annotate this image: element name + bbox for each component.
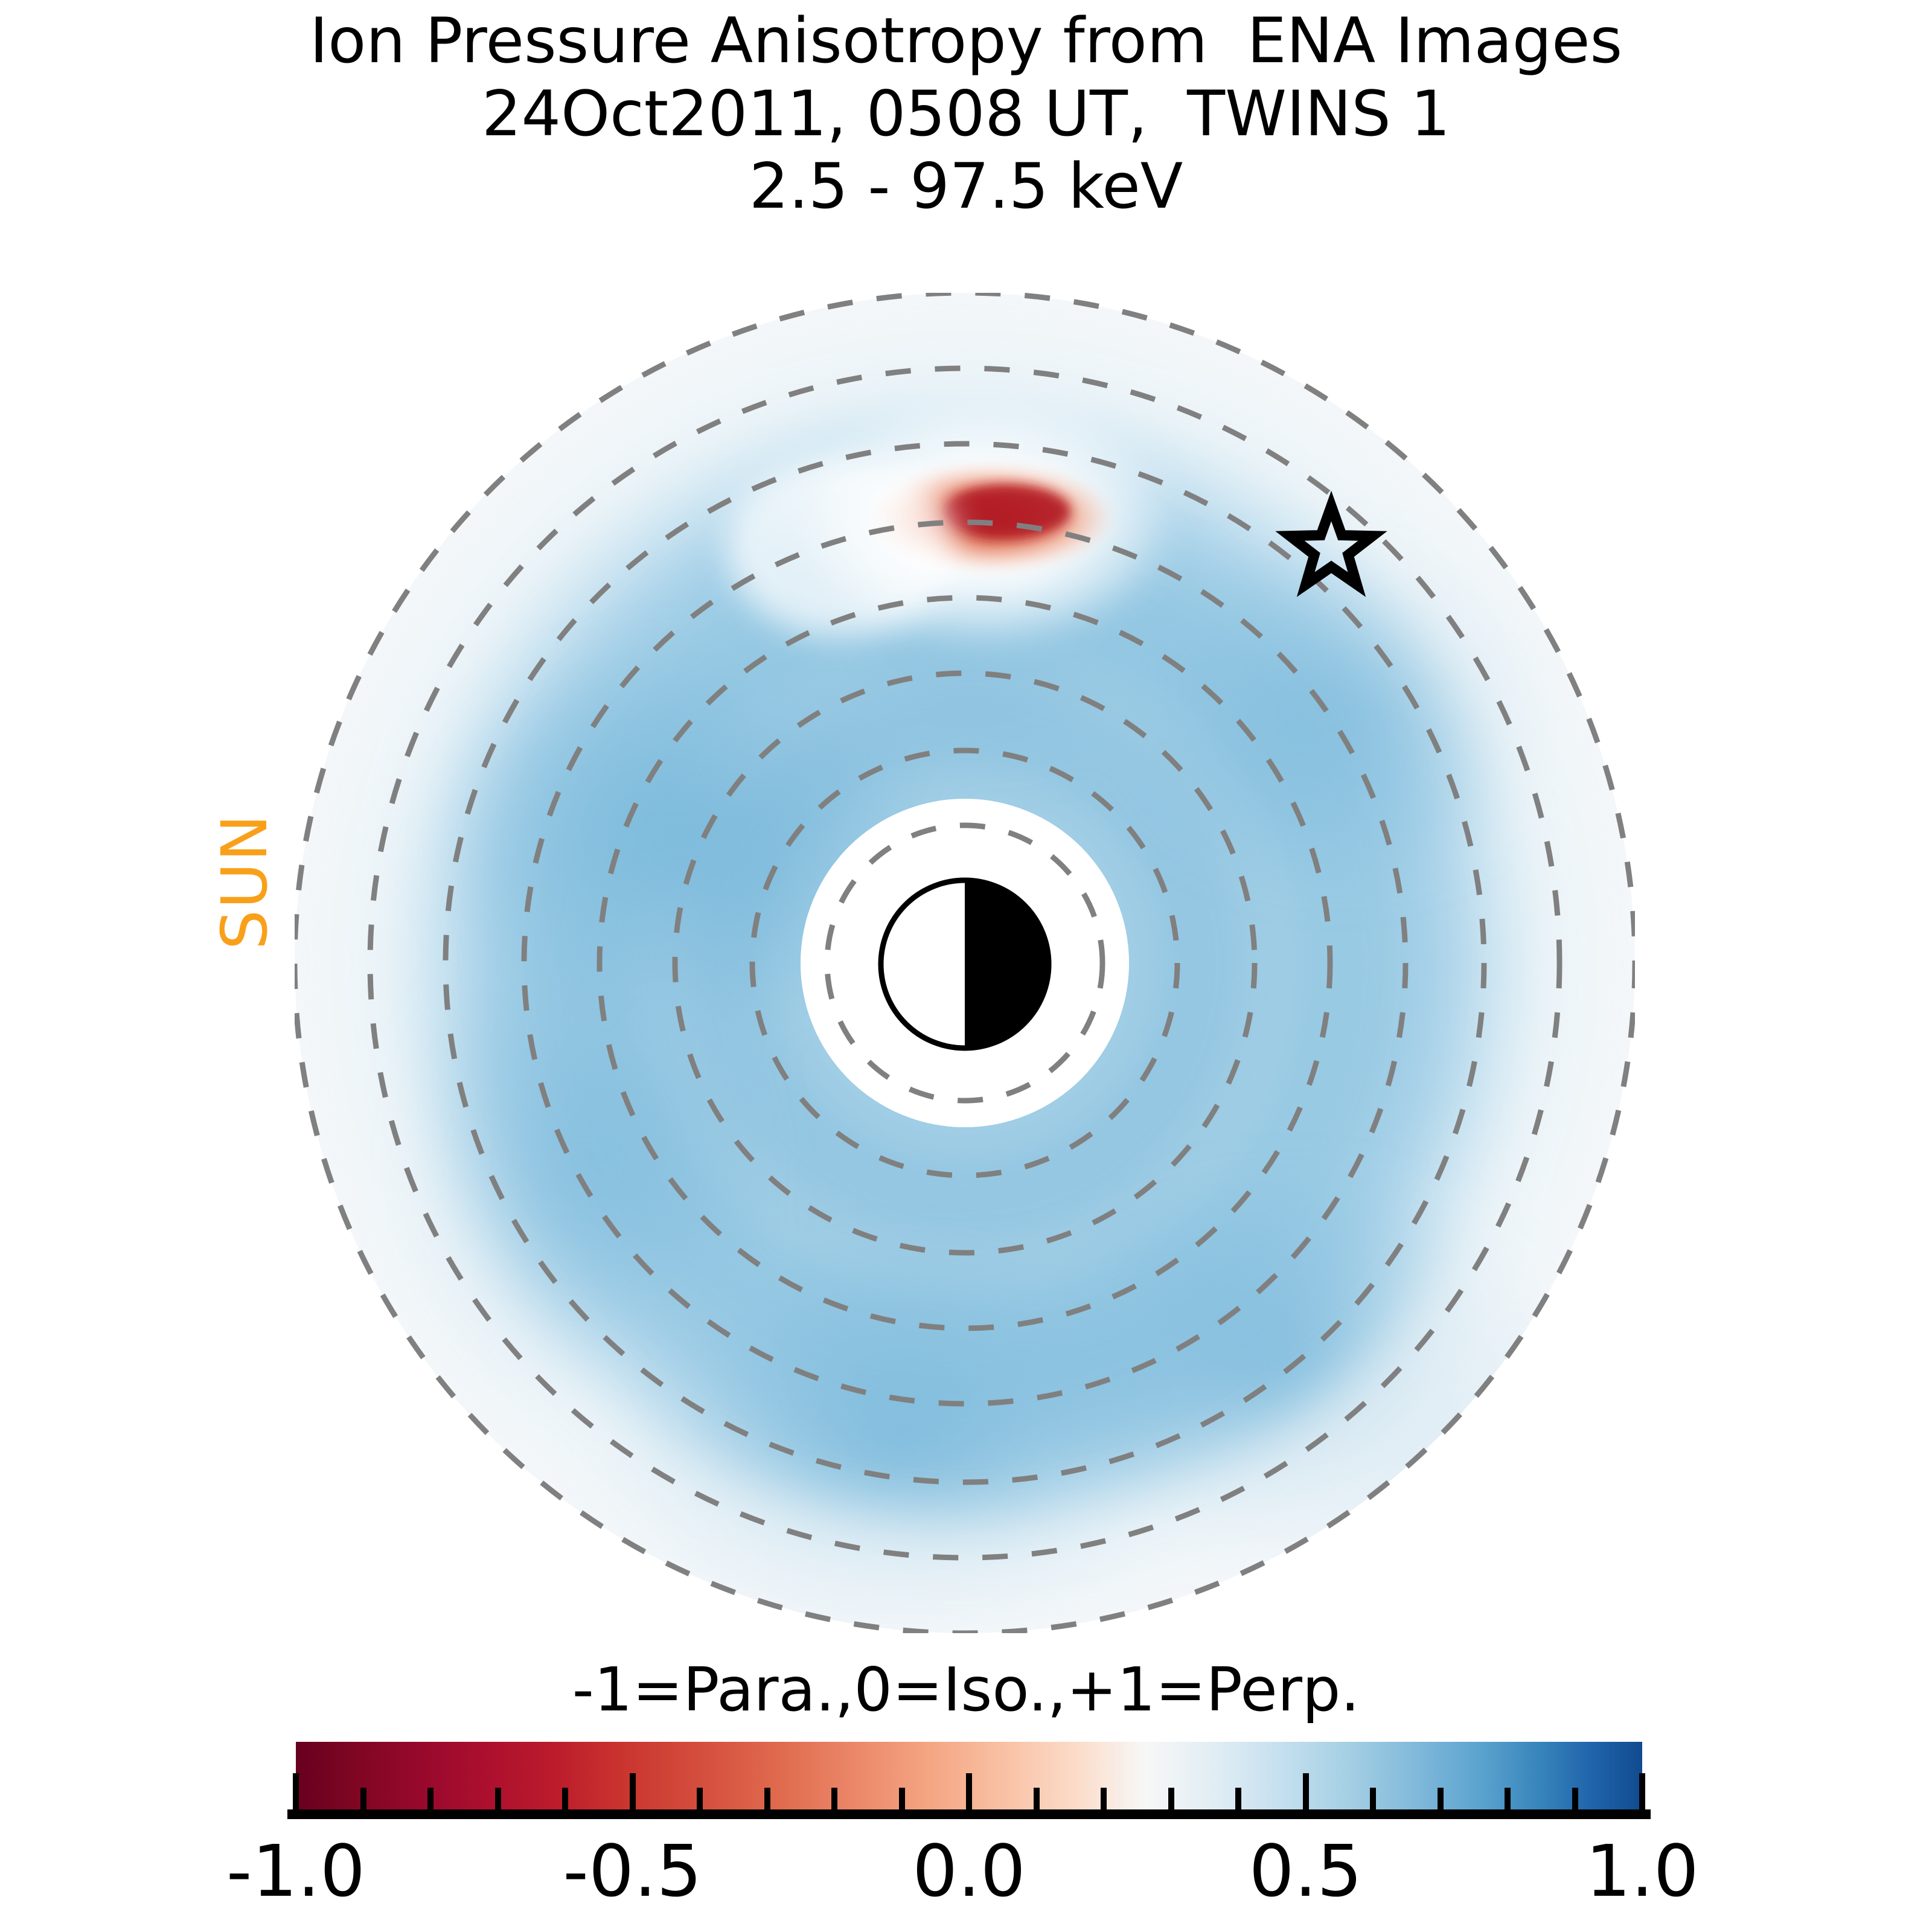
colorbar-tick-label: -1.0	[175, 1829, 417, 1913]
colorbar-tick-label: 1.0	[1521, 1829, 1763, 1913]
colorbar-tick	[831, 1788, 837, 1809]
colorbar-tick	[562, 1788, 568, 1809]
colorbar-tick	[293, 1773, 299, 1809]
colorbar-tick-label: -0.5	[512, 1829, 753, 1913]
colorbar-tick	[1235, 1788, 1241, 1809]
colorbar-tick	[1034, 1788, 1040, 1809]
hotspot-core	[944, 485, 1070, 538]
colorbar-tick	[764, 1788, 770, 1809]
colorbar-tick-labels: -1.0-0.50.00.51.0	[0, 1829, 1932, 1920]
colorbar-tick-label: 0.5	[1185, 1829, 1427, 1913]
polar-anisotropy-plot	[295, 293, 1635, 1633]
polar-plot-svg	[295, 293, 1635, 1633]
colorbar-tick	[427, 1788, 433, 1809]
colorbar-tick-label: 0.0	[848, 1829, 1090, 1913]
colorbar-tick	[1505, 1788, 1511, 1809]
colorbar[interactable]	[296, 1742, 1642, 1809]
colorbar-tick	[1101, 1788, 1107, 1809]
colorbar-tick	[1639, 1773, 1645, 1809]
colorbar-tick	[1370, 1788, 1376, 1809]
colorbar-tick	[360, 1788, 366, 1809]
colorbar-tick	[697, 1788, 703, 1809]
title-line-3: 2.5 - 97.5 keV	[0, 150, 1932, 223]
colorbar-tick	[966, 1773, 972, 1809]
colorbar-tick	[1572, 1788, 1578, 1809]
sun-direction-label: SUN	[220, 782, 269, 981]
title-line-1: Ion Pressure Anisotropy from ENA Images	[0, 5, 1932, 78]
colorbar-caption: -1=Para.,0=Iso.,+1=Perp.	[0, 1654, 1932, 1725]
chart-title-block: Ion Pressure Anisotropy from ENA Images …	[0, 5, 1932, 223]
colorbar-tick	[899, 1788, 905, 1809]
colorbar-tick	[630, 1773, 636, 1809]
earth-icon	[881, 880, 1049, 1048]
colorbar-tick	[1168, 1788, 1174, 1809]
colorbar-tick	[495, 1788, 501, 1809]
colorbar-tick	[1303, 1773, 1309, 1809]
colorbar-axis-line	[287, 1809, 1651, 1819]
colorbar-tick	[1438, 1788, 1444, 1809]
title-line-2: 24Oct2011, 0508 UT, TWINS 1	[0, 78, 1932, 151]
